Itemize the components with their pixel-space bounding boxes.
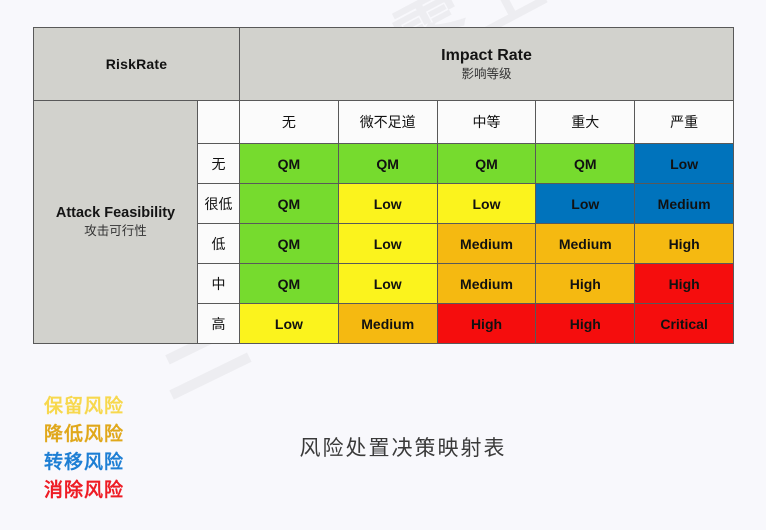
matrix-cell-4-0: Low: [240, 304, 339, 344]
matrix-cell-4-4: Critical: [635, 304, 734, 344]
matrix-cell-4-2: High: [437, 304, 536, 344]
impact-rate-label-en: Impact Rate: [240, 46, 733, 66]
column-header-4: 严重: [635, 101, 734, 144]
matrix-cell-3-2: Medium: [437, 264, 536, 304]
column-header-1: 微不足道: [338, 101, 437, 144]
matrix-cell-2-2: Medium: [437, 224, 536, 264]
riskrate-corner-header: RiskRate: [34, 28, 240, 101]
matrix-cell-4-3: High: [536, 304, 635, 344]
matrix-cell-0-3: QM: [536, 144, 635, 184]
matrix-cell-0-0: QM: [240, 144, 339, 184]
matrix-cell-4-1: Medium: [338, 304, 437, 344]
matrix-cell-3-0: QM: [240, 264, 339, 304]
matrix-cell-0-2: QM: [437, 144, 536, 184]
impact-rate-label-zh: 影响等级: [240, 66, 733, 82]
table-header-row: RiskRate Impact Rate 影响等级: [34, 28, 734, 101]
matrix-cell-2-0: QM: [240, 224, 339, 264]
matrix-cell-1-4: Medium: [635, 184, 734, 224]
figure-caption-text: 风险处置决策映射表: [300, 432, 507, 462]
attack-feasibility-label-zh: 攻击可行性: [34, 222, 197, 240]
risk-matrix-container: RiskRate Impact Rate 影响等级 Attack Feasibi…: [33, 27, 733, 344]
matrix-cell-2-4: High: [635, 224, 734, 264]
column-header-3: 重大: [536, 101, 635, 144]
column-header-row: Attack Feasibility 攻击可行性 无 微不足道 中等 重大 严重: [34, 101, 734, 144]
matrix-cell-1-2: Low: [437, 184, 536, 224]
column-header-0: 无: [240, 101, 339, 144]
figure-caption: 风险处置决策映射表: [0, 432, 766, 462]
matrix-cell-3-4: High: [635, 264, 734, 304]
impact-rate-header: Impact Rate 影响等级: [240, 28, 734, 101]
matrix-cell-3-1: Low: [338, 264, 437, 304]
row-header-2: 低: [198, 224, 240, 264]
row-header-3: 中: [198, 264, 240, 304]
legend-item-remove: 消除风险: [44, 476, 124, 504]
risk-matrix-table: RiskRate Impact Rate 影响等级 Attack Feasibi…: [33, 27, 734, 344]
matrix-cell-1-3: Low: [536, 184, 635, 224]
column-header-corner-blank: [198, 101, 240, 144]
attack-feasibility-label-en: Attack Feasibility: [34, 204, 197, 223]
attack-feasibility-axis-header: Attack Feasibility 攻击可行性: [34, 101, 198, 344]
matrix-cell-0-4: Low: [635, 144, 734, 184]
matrix-cell-2-1: Low: [338, 224, 437, 264]
matrix-cell-2-3: Medium: [536, 224, 635, 264]
legend-item-retain: 保留风险: [44, 392, 124, 420]
row-header-0: 无: [198, 144, 240, 184]
row-header-4: 高: [198, 304, 240, 344]
column-header-2: 中等: [437, 101, 536, 144]
matrix-cell-3-3: High: [536, 264, 635, 304]
matrix-cell-1-0: QM: [240, 184, 339, 224]
matrix-cell-0-1: QM: [338, 144, 437, 184]
row-header-1: 很低: [198, 184, 240, 224]
matrix-cell-1-1: Low: [338, 184, 437, 224]
